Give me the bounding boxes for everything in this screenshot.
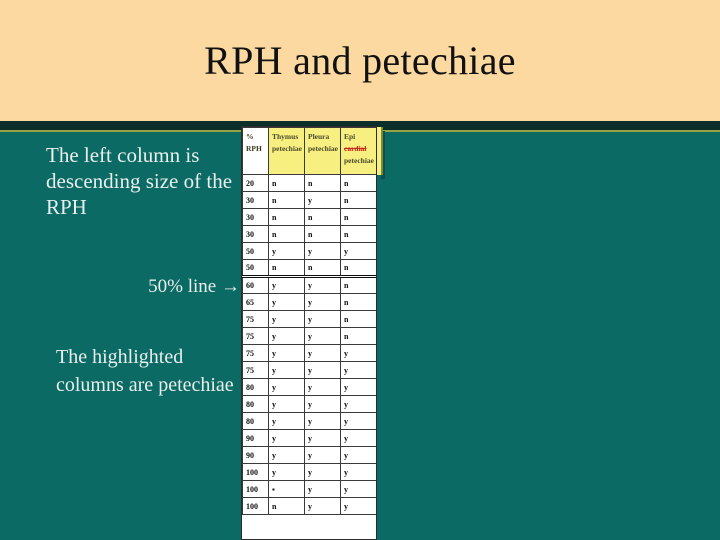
- cell-pleura: y: [305, 481, 341, 498]
- cell-epicardial: n: [341, 328, 378, 345]
- column-header-rph-line1: %: [246, 131, 268, 143]
- cell-epicardial: y: [341, 413, 378, 430]
- table-row: 50yyy: [243, 243, 378, 260]
- cell-thymus: y: [269, 396, 305, 413]
- cell-rph: 20: [243, 175, 269, 192]
- cell-pleura: y: [305, 277, 341, 294]
- table-row: 100nyy: [243, 498, 378, 515]
- cell-thymus: n: [269, 498, 305, 515]
- cell-pleura: y: [305, 396, 341, 413]
- table-header: % RPH Thymus petechiae Pleura petechiae …: [243, 128, 378, 175]
- cell-epicardial: y: [341, 345, 378, 362]
- cell-epicardial: n: [341, 226, 378, 243]
- cell-pleura: y: [305, 192, 341, 209]
- cell-pleura: y: [305, 362, 341, 379]
- cell-thymus: y: [269, 447, 305, 464]
- cell-rph: 80: [243, 379, 269, 396]
- caption-highlighted-columns: The highlighted columns are petechiae: [56, 343, 241, 399]
- table-row: 75yyn: [243, 328, 378, 345]
- cell-epicardial: y: [341, 447, 378, 464]
- cell-epicardial: y: [341, 362, 378, 379]
- column-header-thymus-line1: Thymus: [272, 131, 304, 143]
- cell-rph: 90: [243, 447, 269, 464]
- cell-rph: 75: [243, 345, 269, 362]
- page-title: RPH and petechiae: [0, 38, 720, 84]
- cell-epicardial: y: [341, 379, 378, 396]
- cell-thymus: y: [269, 328, 305, 345]
- column-header-epicardial-line1: Epi: [344, 131, 377, 143]
- table-row: 50nnn: [243, 260, 378, 277]
- cell-pleura: y: [305, 345, 341, 362]
- title-banner: RPH and petechiae: [0, 0, 720, 121]
- table-row: 20nnn: [243, 175, 378, 192]
- cell-epicardial: y: [341, 243, 378, 260]
- table-row: 75yyn: [243, 311, 378, 328]
- table-row: 100▪yy: [243, 481, 378, 498]
- cell-thymus: n: [269, 175, 305, 192]
- table-row: 80yyy: [243, 413, 378, 430]
- cell-rph: 75: [243, 328, 269, 345]
- cell-pleura: y: [305, 447, 341, 464]
- cell-thymus: y: [269, 430, 305, 447]
- cell-thymus: n: [269, 260, 305, 277]
- cell-epicardial: y: [341, 464, 378, 481]
- cell-pleura: n: [305, 226, 341, 243]
- table-row: 30nnn: [243, 226, 378, 243]
- cell-rph: 75: [243, 362, 269, 379]
- cell-rph: 90: [243, 430, 269, 447]
- table-row: 100yyy: [243, 464, 378, 481]
- cell-rph: 50: [243, 260, 269, 277]
- table-row: 80yyy: [243, 379, 378, 396]
- column-header-epicardial-struck: cardial: [344, 143, 377, 155]
- caption-left-column: The left column is descending size of th…: [46, 142, 236, 220]
- table-body: 20nnn30nyn30nnn30nnn50yyy50nnn60yyn65yyn…: [243, 175, 378, 515]
- column-header-pleura-line2: petechiae: [308, 143, 340, 155]
- cell-thymus: n: [269, 192, 305, 209]
- cell-pleura: n: [305, 209, 341, 226]
- cell-thymus: y: [269, 345, 305, 362]
- cell-thymus: ▪: [269, 481, 305, 498]
- cell-thymus: y: [269, 277, 305, 294]
- cell-epicardial: n: [341, 192, 378, 209]
- table-header-row: % RPH Thymus petechiae Pleura petechiae …: [243, 128, 378, 175]
- table-row: 75yyy: [243, 345, 378, 362]
- cell-rph: 60: [243, 277, 269, 294]
- cell-thymus: y: [269, 413, 305, 430]
- table-row: 75yyy: [243, 362, 378, 379]
- petechiae-table: % RPH Thymus petechiae Pleura petechiae …: [242, 127, 377, 515]
- cell-pleura: y: [305, 498, 341, 515]
- slide: RPH and petechiae The left column is des…: [0, 0, 720, 540]
- table-row: 65yyn: [243, 294, 378, 311]
- column-header-thymus: Thymus petechiae: [269, 128, 305, 175]
- cell-rph: 80: [243, 396, 269, 413]
- cell-thymus: y: [269, 311, 305, 328]
- column-header-thymus-line2: petechiae: [272, 143, 304, 155]
- cell-thymus: y: [269, 379, 305, 396]
- table-row: 90yyy: [243, 447, 378, 464]
- column-header-epicardial: Epi cardial petechiae: [341, 128, 378, 175]
- cell-pleura: y: [305, 243, 341, 260]
- cell-epicardial: y: [341, 481, 378, 498]
- cell-rph: 50: [243, 243, 269, 260]
- cell-thymus: n: [269, 226, 305, 243]
- cell-pleura: y: [305, 413, 341, 430]
- cell-pleura: y: [305, 328, 341, 345]
- column-header-rph: % RPH: [243, 128, 269, 175]
- cell-epicardial: n: [341, 277, 378, 294]
- cell-epicardial: y: [341, 396, 378, 413]
- cell-rph: 65: [243, 294, 269, 311]
- cell-rph: 30: [243, 209, 269, 226]
- cell-thymus: y: [269, 294, 305, 311]
- cell-epicardial: n: [341, 294, 378, 311]
- cell-rph: 100: [243, 481, 269, 498]
- cell-pleura: y: [305, 311, 341, 328]
- cell-pleura: y: [305, 464, 341, 481]
- column-header-pleura-line1: Pleura: [308, 131, 340, 143]
- column-header-pleura: Pleura petechiae: [305, 128, 341, 175]
- cell-thymus: n: [269, 209, 305, 226]
- cell-thymus: y: [269, 362, 305, 379]
- cell-rph: 30: [243, 226, 269, 243]
- cell-rph: 75: [243, 311, 269, 328]
- caption-fifty-percent-line: 50% line →: [46, 275, 246, 299]
- column-header-rph-line2: RPH: [246, 143, 268, 155]
- cell-epicardial: n: [341, 175, 378, 192]
- table-row: 30nyn: [243, 192, 378, 209]
- cell-rph: 80: [243, 413, 269, 430]
- cell-epicardial: y: [341, 430, 378, 447]
- cell-rph: 100: [243, 464, 269, 481]
- cell-epicardial: y: [341, 498, 378, 515]
- cell-pleura: y: [305, 379, 341, 396]
- cell-epicardial: n: [341, 209, 378, 226]
- petechiae-table-container: % RPH Thymus petechiae Pleura petechiae …: [241, 126, 377, 540]
- table-row: 60yyn: [243, 277, 378, 294]
- cell-epicardial: n: [341, 260, 378, 277]
- table-row: 90yyy: [243, 430, 378, 447]
- table-row: 80yyy: [243, 396, 378, 413]
- cell-thymus: y: [269, 243, 305, 260]
- cell-rph: 100: [243, 498, 269, 515]
- cell-pleura: n: [305, 175, 341, 192]
- cell-pleura: y: [305, 294, 341, 311]
- table-row: 30nnn: [243, 209, 378, 226]
- column-header-epicardial-line3: petechiae: [344, 155, 377, 167]
- cell-rph: 30: [243, 192, 269, 209]
- cell-epicardial: n: [341, 311, 378, 328]
- cell-thymus: y: [269, 464, 305, 481]
- cell-pleura: y: [305, 430, 341, 447]
- cell-pleura: n: [305, 260, 341, 277]
